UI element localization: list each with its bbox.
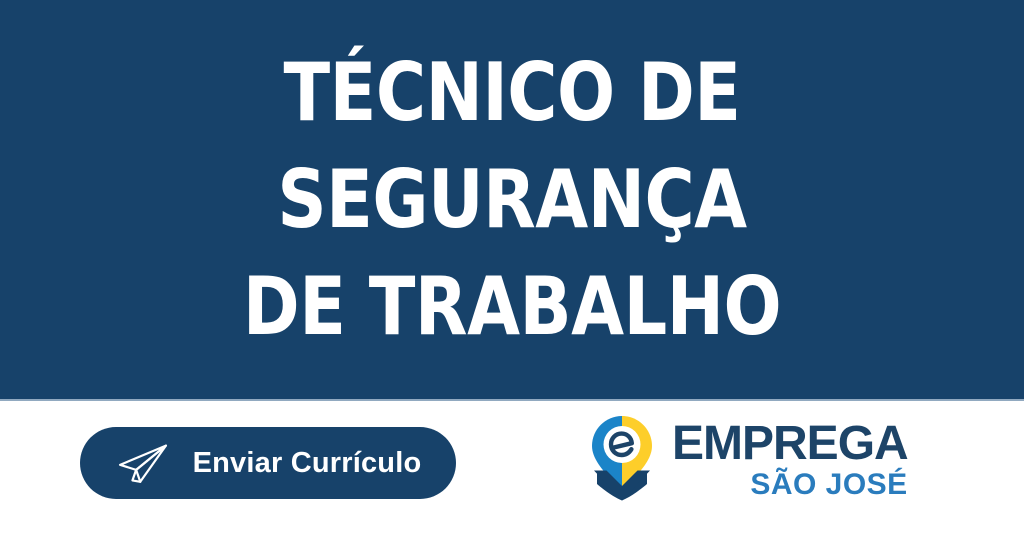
brand-text-block: EMPREGA SÃO JOSÉ: [672, 414, 908, 501]
page-title: TÉCNICO DE SEGURANÇA DE TRABALHO: [26, 39, 999, 361]
paper-plane-send-icon: [115, 441, 171, 485]
brand-logo[interactable]: EMPREGA SÃO JOSÉ: [586, 414, 908, 514]
brand-subtitle: SÃO JOSÉ: [750, 469, 907, 501]
brand-name: EMPREGA: [672, 420, 908, 467]
cta-container: Enviar Currículo: [80, 427, 456, 499]
location-pin-e-icon: [586, 414, 658, 502]
hero-section: TÉCNICO DE SEGURANÇA DE TRABALHO: [0, 0, 1024, 399]
job-posting-banner: TÉCNICO DE SEGURANÇA DE TRABALHO Enviar …: [0, 0, 1024, 536]
send-resume-button[interactable]: Enviar Currículo: [80, 427, 456, 499]
paper-plane-icon-holder: [115, 441, 171, 485]
send-resume-button-label: Enviar Currículo: [193, 449, 422, 478]
